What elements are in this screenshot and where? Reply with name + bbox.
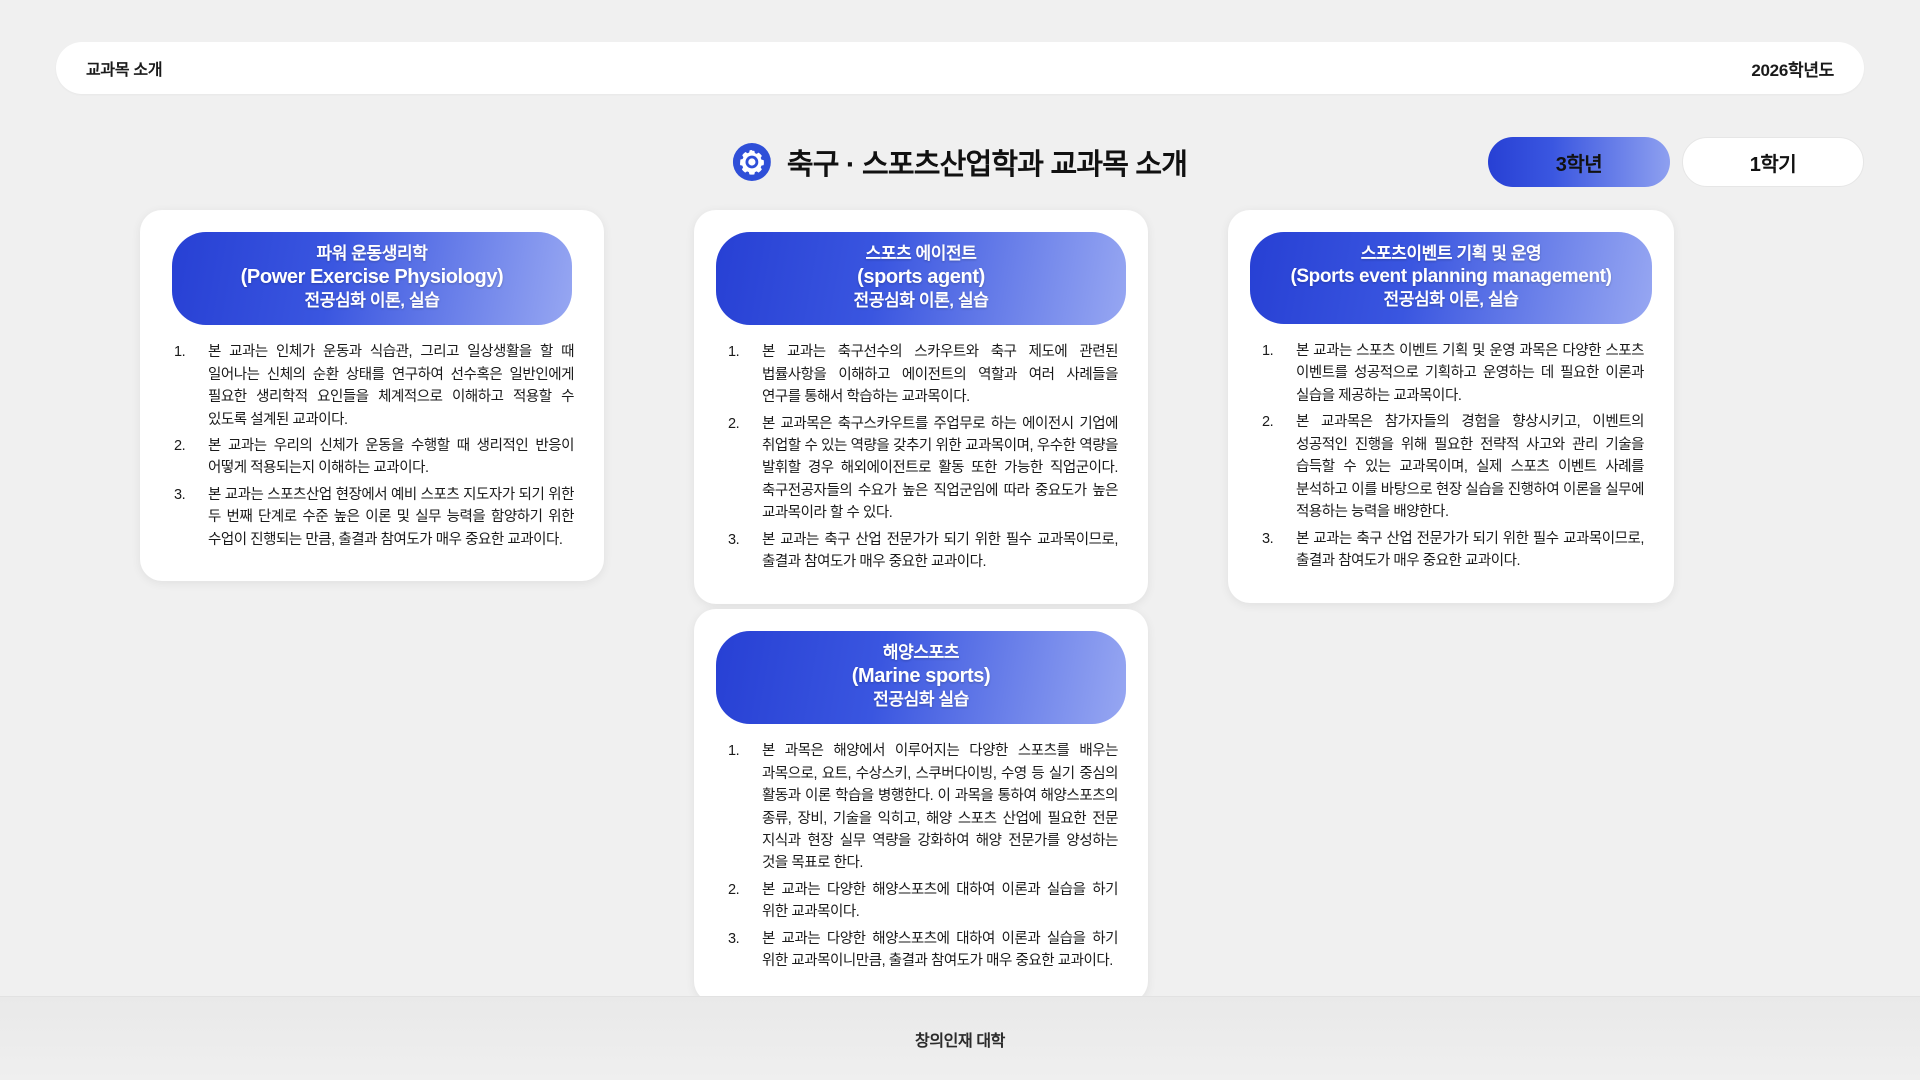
course-card[interactable]: 스포츠이벤트 기획 및 운영 (Sports event planning ma… xyxy=(1228,210,1674,603)
header-pill: 교과목 소개 2026학년도 xyxy=(56,42,1864,94)
selector-badges: 3학년 1학기 xyxy=(1488,133,1864,191)
course-description-item: 본 교과는 스포츠 이벤트 기획 및 운영 과목은 다양한 스포츠 이벤트를 성… xyxy=(1256,340,1644,407)
grade-badge[interactable]: 3학년 xyxy=(1488,137,1670,187)
course-name-ko: 해양스포츠 xyxy=(730,642,1112,664)
course-name-en: (sports agent) xyxy=(730,265,1112,291)
course-card-board: 파워 운동생리학 (Power Exercise Physiology) 전공심… xyxy=(0,205,1920,1005)
course-card[interactable]: 해양스포츠 (Marine sports) 전공심화 실습 본 과목은 해양에서… xyxy=(694,609,1148,1003)
header-left-label: 교과목 소개 xyxy=(86,56,162,80)
term-badge[interactable]: 1학기 xyxy=(1682,137,1864,187)
header-academic-year: 2026학년도 xyxy=(1751,56,1834,81)
course-description-item: 본 교과는 축구 산업 전문가가 되기 위한 필수 교과목이므로, 출결과 참여… xyxy=(722,529,1118,574)
course-description-item: 본 교과는 다양한 해양스포츠에 대하여 이론과 실습을 하기 위한 교과목이다… xyxy=(722,879,1118,924)
course-card[interactable]: 파워 운동생리학 (Power Exercise Physiology) 전공심… xyxy=(140,210,604,581)
course-subtitle: 전공심화 이론, 실습 xyxy=(186,290,558,312)
course-card-inner: 스포츠이벤트 기획 및 운영 (Sports event planning ma… xyxy=(1228,210,1674,603)
course-name-en: (Marine sports) xyxy=(730,664,1112,690)
title-row: 축구 · 스포츠산업학과 교과목 소개 3학년 1학기 xyxy=(0,133,1920,191)
course-name-en: (Sports event planning management) xyxy=(1264,265,1638,289)
course-name-ko: 파워 운동생리학 xyxy=(186,243,558,265)
course-card[interactable]: 스포츠 에이전트 (sports agent) 전공심화 이론, 실습 본 교과… xyxy=(694,210,1148,604)
footer-label: 창의인재 대학 xyxy=(915,1027,1005,1051)
course-description-list: 본 교과는 축구선수의 스카우트와 축구 제도에 관련된 법률사항을 이해하고 … xyxy=(714,341,1128,574)
course-subtitle: 전공심화 이론, 실습 xyxy=(1264,289,1638,311)
course-subtitle: 전공심화 이론, 실습 xyxy=(730,290,1112,312)
course-description-item: 본 교과는 인체가 운동과 식습관, 그리고 일상생활을 할 때 일어나는 신체… xyxy=(168,341,574,431)
course-name-en: (Power Exercise Physiology) xyxy=(186,265,558,291)
course-description-item: 본 교과는 축구선수의 스카우트와 축구 제도에 관련된 법률사항을 이해하고 … xyxy=(722,341,1118,408)
title-group: 축구 · 스포츠산업학과 교과목 소개 xyxy=(733,133,1187,191)
course-name-ko: 스포츠이벤트 기획 및 운영 xyxy=(1264,243,1638,265)
top-header-bar: 교과목 소개 2026학년도 xyxy=(56,42,1864,94)
gear-icon xyxy=(733,143,771,181)
course-card-inner: 스포츠 에이전트 (sports agent) 전공심화 이론, 실습 본 교과… xyxy=(694,210,1148,604)
course-card-inner: 해양스포츠 (Marine sports) 전공심화 실습 본 과목은 해양에서… xyxy=(694,609,1148,1003)
course-description-item: 본 교과는 우리의 신체가 운동을 수행할 때 생리적인 반응이 어떻게 적용되… xyxy=(168,435,574,480)
course-description-list: 본 과목은 해양에서 이루어지는 다양한 스포츠를 배우는 과목으로, 요트, … xyxy=(714,740,1128,973)
page-title: 축구 · 스포츠산업학과 교과목 소개 xyxy=(787,141,1187,183)
course-card-inner: 파워 운동생리학 (Power Exercise Physiology) 전공심… xyxy=(140,210,604,581)
course-description-item: 본 교과는 다양한 해양스포츠에 대하여 이론과 실습을 하기 위한 교과목이니… xyxy=(722,928,1118,973)
course-description-item: 본 교과는 축구 산업 전문가가 되기 위한 필수 교과목이므로, 출결과 참여… xyxy=(1256,528,1644,573)
course-description-item: 본 교과목은 축구스카우트를 주업무로 하는 에이전시 기업에 취업할 수 있는… xyxy=(722,413,1118,525)
course-subtitle: 전공심화 실습 xyxy=(730,689,1112,711)
course-title-pill: 스포츠이벤트 기획 및 운영 (Sports event planning ma… xyxy=(1250,232,1652,324)
page-footer: 창의인재 대학 xyxy=(0,996,1920,1080)
course-name-ko: 스포츠 에이전트 xyxy=(730,243,1112,265)
course-description-item: 본 교과목은 참가자들의 경험을 향상시키고, 이벤트의 성공적인 진행을 위해… xyxy=(1256,411,1644,523)
course-description-item: 본 과목은 해양에서 이루어지는 다양한 스포츠를 배우는 과목으로, 요트, … xyxy=(722,740,1118,875)
course-description-list: 본 교과는 스포츠 이벤트 기획 및 운영 과목은 다양한 스포츠 이벤트를 성… xyxy=(1248,340,1654,573)
course-description-list: 본 교과는 인체가 운동과 식습관, 그리고 일상생활을 할 때 일어나는 신체… xyxy=(160,341,584,551)
course-description-item: 본 교과는 스포츠산업 현장에서 예비 스포츠 지도자가 되기 위한 두 번째 … xyxy=(168,484,574,551)
course-title-pill: 파워 운동생리학 (Power Exercise Physiology) 전공심… xyxy=(172,232,572,325)
course-title-pill: 스포츠 에이전트 (sports agent) 전공심화 이론, 실습 xyxy=(716,232,1126,325)
course-title-pill: 해양스포츠 (Marine sports) 전공심화 실습 xyxy=(716,631,1126,724)
